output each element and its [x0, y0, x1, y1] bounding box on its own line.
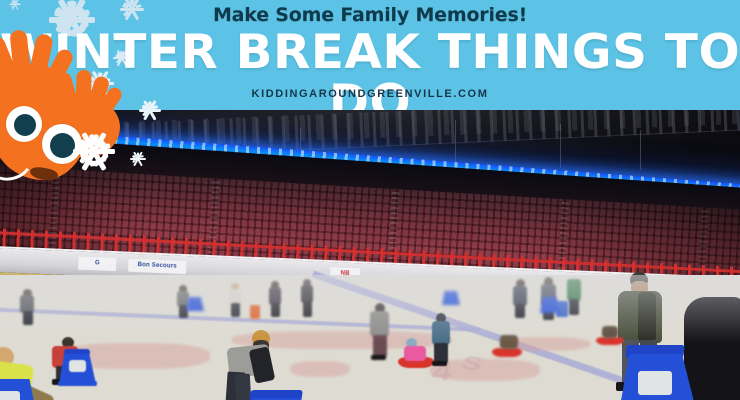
- legs: [23, 311, 33, 325]
- legs: [515, 304, 525, 318]
- child-on-sled-pink: [404, 338, 430, 362]
- ice-red-marking: [232, 331, 452, 349]
- ice-skate: [638, 380, 662, 389]
- ice-red-marking: [500, 337, 590, 351]
- skate-aid-walker: [186, 295, 206, 313]
- ice-center-logo: S: [461, 352, 484, 377]
- distant-skater: [268, 281, 282, 319]
- legs: [622, 340, 639, 388]
- child-on-sled: [500, 333, 520, 353]
- mascot-pupil-right: [50, 133, 75, 158]
- board-ad: G: [78, 257, 117, 272]
- skater-with-walker: [222, 330, 278, 400]
- legs: [56, 366, 74, 382]
- torso-coat: [301, 285, 313, 303]
- puffer-jacket: [618, 291, 662, 343]
- walker-body: [540, 297, 560, 313]
- skater-teal: [430, 313, 452, 369]
- kicker-text: Make Some Family Memories!: [0, 4, 740, 26]
- ice-skate: [52, 379, 68, 385]
- head: [516, 279, 525, 288]
- distant-skater: [512, 279, 528, 321]
- torso-coat: [500, 335, 518, 349]
- rigging-cable: [640, 130, 641, 170]
- walker-body: [618, 354, 698, 400]
- orange-mascot: [0, 28, 136, 193]
- ice-sled: [492, 348, 522, 357]
- ice-skate: [432, 361, 447, 366]
- board-ad: Bon Secours: [128, 259, 186, 274]
- legs: [235, 374, 252, 400]
- ice-surface: 4 S: [0, 275, 740, 400]
- distant-skater: [176, 285, 190, 319]
- torso-coat: [227, 344, 272, 378]
- head: [631, 281, 648, 294]
- legs: [14, 382, 55, 400]
- ice-skate: [371, 355, 386, 360]
- skate-aid-walker: [616, 345, 702, 400]
- rigging-cable: [560, 124, 561, 168]
- distant-skater: [20, 289, 36, 329]
- child-in-red: [46, 337, 86, 387]
- walker-cutout: [0, 391, 20, 400]
- skate-aid-walker: [240, 390, 318, 400]
- distant-skater: [540, 277, 558, 323]
- child-on-ice-yellow: [0, 347, 62, 400]
- ice-sled: [398, 357, 434, 368]
- child-on-sled: [602, 324, 620, 340]
- torso-coat: [541, 284, 556, 306]
- ice-red-marking: [60, 343, 210, 369]
- torso-coat: [20, 295, 34, 313]
- legs: [303, 301, 312, 317]
- walker-body: [442, 291, 460, 305]
- torso-coat: [370, 311, 389, 337]
- walker-body: [59, 354, 96, 384]
- beanie: [252, 330, 270, 347]
- skate-aid-walker: [442, 289, 462, 307]
- distant-skater: [566, 275, 582, 319]
- walker-cutout: [638, 371, 672, 395]
- legs: [543, 304, 554, 320]
- walker-handle: [625, 345, 685, 358]
- distant-skater: [228, 283, 242, 319]
- rink-blue-line: [312, 271, 740, 400]
- rink-cone: [250, 305, 260, 319]
- hat: [406, 338, 417, 348]
- torso-coat: [567, 279, 581, 301]
- walker-body: [186, 297, 204, 311]
- legs: [271, 303, 280, 317]
- arm-sleeve: [249, 346, 276, 383]
- torso-coat: [513, 286, 527, 306]
- head: [231, 283, 239, 291]
- legs: [373, 335, 387, 357]
- skater-olive-jacket: [614, 272, 670, 400]
- ice-sled: [596, 337, 624, 345]
- ice-red-marking: [430, 359, 540, 381]
- hooded-coat: [684, 297, 740, 400]
- yellow-shirt: [0, 360, 34, 400]
- torso-coat: [432, 321, 450, 345]
- head: [253, 340, 269, 352]
- ice-red-marking: [290, 361, 350, 377]
- walker-handle: [249, 390, 303, 400]
- jacket-shadow: [638, 292, 656, 342]
- head: [303, 279, 311, 287]
- skate-aid-walker: [0, 373, 46, 400]
- walker-base: [58, 381, 97, 386]
- torso-coat: [177, 291, 189, 307]
- cap: [630, 272, 648, 288]
- walker-handle: [64, 349, 90, 356]
- distant-skater: [300, 279, 314, 319]
- torso-coat: [269, 287, 281, 305]
- legs: [231, 303, 240, 317]
- ice-center-logo: 4: [431, 357, 453, 388]
- skater-grey: [368, 303, 392, 363]
- torso-coat: [602, 326, 618, 338]
- skate-aid-walker: [58, 349, 98, 387]
- legs: [224, 371, 245, 400]
- blue-bag: [556, 301, 568, 317]
- head: [62, 337, 74, 348]
- red-coat: [52, 346, 78, 368]
- rink-blue-line: [0, 306, 480, 332]
- pink-snowsuit: [404, 346, 426, 361]
- legs: [434, 343, 448, 363]
- walker-body: [0, 379, 40, 400]
- head: [375, 303, 385, 313]
- legs: [640, 340, 657, 386]
- skate-aid-walker: [540, 295, 562, 315]
- mascot-pupil-left: [14, 114, 36, 136]
- head: [544, 277, 553, 286]
- winter-break-feature-card: G Bon Secours NB SWAMP SWAMP 4 S: [0, 0, 740, 400]
- head: [271, 281, 279, 289]
- legs: [179, 305, 188, 318]
- head: [0, 347, 14, 367]
- walker-cutout: [69, 360, 86, 372]
- head: [179, 285, 187, 293]
- head: [23, 289, 32, 297]
- ice-skate: [616, 382, 642, 391]
- foreground-person-dark: [680, 297, 740, 400]
- head: [436, 313, 446, 323]
- legs: [569, 299, 579, 315]
- torso-coat: [229, 289, 241, 305]
